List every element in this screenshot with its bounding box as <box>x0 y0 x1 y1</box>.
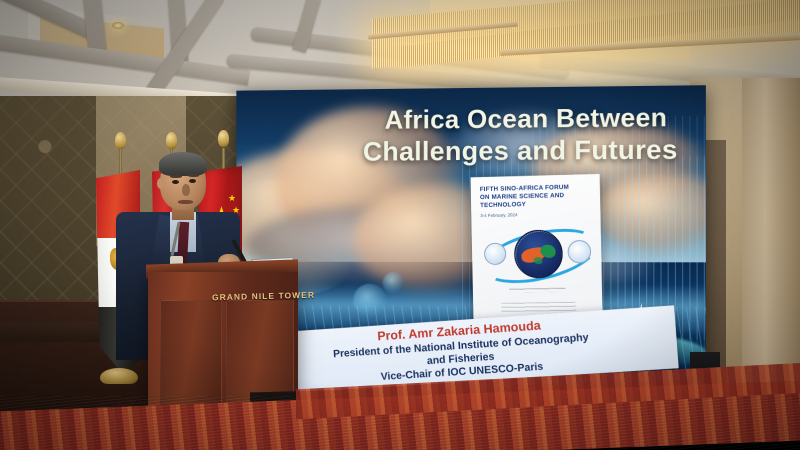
speaker-brow-left <box>170 175 182 178</box>
speaker-brow-right <box>188 174 199 177</box>
speaker-ear <box>157 178 164 189</box>
wall-pillar-right <box>742 78 800 408</box>
speaker-hair <box>159 152 207 176</box>
speaker-nose <box>182 184 190 196</box>
speaker-eye-right <box>189 179 196 183</box>
flag-finial-left <box>115 132 126 149</box>
emblem-green-shape <box>540 245 555 258</box>
speaker-mouth <box>178 200 193 204</box>
speaker-eye-left <box>172 180 179 184</box>
conference-photo-scene: Africa Ocean Between Challenges and Futu… <box>0 0 800 450</box>
ceiling-downlight <box>112 22 124 29</box>
slide-footer-credits <box>501 302 576 312</box>
projection-screen: Africa Ocean Between Challenges and Futu… <box>236 85 706 401</box>
flag-stand-left <box>100 368 138 384</box>
screen-headline-line2: Challenges and Futures <box>363 134 678 167</box>
inner-slide: FIFTH SINO-AFRICA FORUM ON MARINE SCIENC… <box>471 174 603 319</box>
slide-date: 3-4 February, 2024 <box>480 212 517 218</box>
sino-africa-forum-emblem-icon <box>514 229 563 278</box>
slide-logo-group <box>471 220 601 283</box>
flag-finial-right <box>218 130 229 147</box>
flag-finial-middle <box>166 132 177 149</box>
emblem-green-shape-2 <box>533 257 542 264</box>
slide-footer-text <box>509 288 566 293</box>
screen-headline-line1: Africa Ocean Between <box>385 102 668 136</box>
slide-title-line3: TECHNOLOGY <box>480 199 593 210</box>
